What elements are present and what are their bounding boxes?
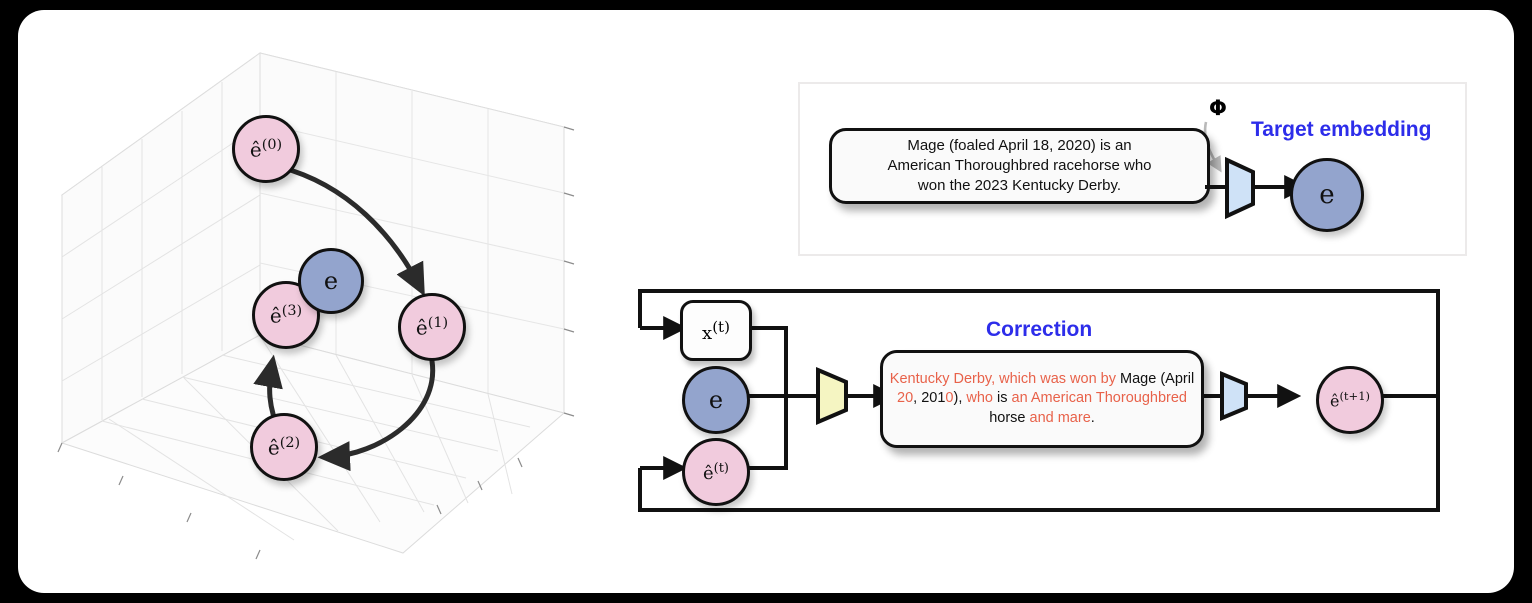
target-embedding-title: Target embedding — [1251, 118, 1431, 142]
embedding-node-e0[interactable]: ê(0) — [232, 115, 300, 183]
output-node-ehat-next[interactable]: ê(t+1) — [1316, 366, 1384, 434]
correction-token: (April — [1156, 371, 1194, 387]
correction-panel: Correction — [618, 278, 1458, 538]
correction-token: . — [1091, 410, 1095, 426]
correction-token: 201 — [921, 390, 945, 406]
node-label: ê(1) — [416, 315, 448, 340]
correction-token: Kentucky Derby — [890, 371, 991, 387]
correction-token: 20 — [897, 390, 913, 406]
node-label: ê(2) — [268, 435, 300, 460]
encoder-trapezoid — [1227, 160, 1253, 216]
correction-token: , — [913, 390, 921, 406]
input-node-xt[interactable]: x(t) — [680, 300, 752, 361]
source-text-box[interactable]: Mage (foaled April 18, 2020) is an Ameri… — [829, 128, 1210, 204]
node-label: e — [709, 386, 723, 414]
node-label: ê(t+1) — [1330, 389, 1370, 410]
target-embedding-panel: Target embedding Φ Mage (foaled April 18… — [798, 82, 1467, 256]
node-label: ê(t) — [703, 461, 729, 484]
correction-token: an American Thoroughbred — [1012, 390, 1187, 406]
correction-token: Mage — [1120, 371, 1156, 387]
node-label: e — [324, 267, 338, 295]
correction-token: ), — [953, 390, 966, 406]
corrected-text-box[interactable]: Kentucky Derby, which was won by Mage (A… — [880, 350, 1204, 448]
embedding-space-plot: ê(0) ê(1) ê(2) ê(3) e — [48, 35, 608, 580]
node-label: e — [1319, 180, 1334, 210]
correction-token: and mare — [1030, 410, 1091, 426]
target-embedding-node-e[interactable]: e — [298, 248, 364, 314]
embedding-node-e1[interactable]: ê(1) — [398, 293, 466, 361]
correction-token: is — [997, 390, 1012, 406]
correction-token: , — [991, 371, 999, 387]
phi-symbol: Φ — [1209, 96, 1227, 120]
node-label: ê(0) — [250, 137, 282, 162]
input-node-ehat-t[interactable]: ê(t) — [682, 438, 750, 506]
corrected-text: Kentucky Derby, which was won by Mage (A… — [883, 370, 1201, 428]
figure-card: ê(0) ê(1) ê(2) ê(3) e Target embedding Φ — [18, 10, 1514, 593]
correction-token: who — [966, 390, 997, 406]
node-label: ê(3) — [270, 303, 302, 328]
decoder-trapezoid — [818, 370, 846, 422]
correction-token: horse — [989, 410, 1029, 426]
node-label: x(t) — [702, 318, 730, 344]
source-text: Mage (foaled April 18, 2020) is an Ameri… — [887, 136, 1151, 196]
encoder-trapezoid-2 — [1222, 374, 1246, 418]
correction-token: which was won by — [999, 371, 1120, 387]
embedding-node-e2[interactable]: ê(2) — [250, 413, 318, 481]
input-node-e[interactable]: e — [682, 366, 750, 434]
target-embedding-output-node[interactable]: e — [1290, 158, 1364, 232]
